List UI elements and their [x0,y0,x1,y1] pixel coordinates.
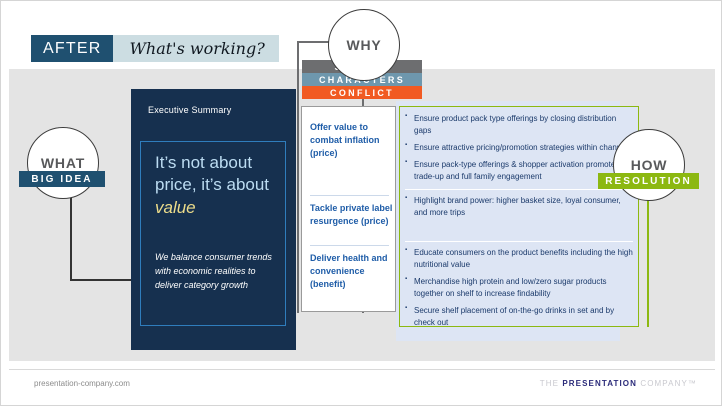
middle-item-3: Deliver health and convenience (benefit) [310,252,394,291]
middle-separator-1 [310,195,389,196]
header-after-badge: AFTER [31,35,113,62]
resolution-separator-1 [405,189,633,190]
connector-why-vertical-left [297,41,299,313]
executive-summary-panel: Executive Summary It’s not about price, … [131,89,296,350]
headline-emphasis: value [155,198,196,217]
big-idea-tag: BIG IDEA [19,171,105,187]
what-circle: WHAT [27,127,99,199]
footer-website: presentation-company.com [34,379,130,388]
resolution-bullet: Educate consumers on the product benefit… [405,247,633,271]
middle-column: Offer value to combat inflation (price) … [301,106,396,312]
footer-divider [9,369,715,370]
big-idea-box: It’s not about price, it’s about value W… [140,141,286,326]
resolution-group-2: Highlight brand power: higher basket siz… [405,195,633,224]
resolution-bullet: Secure shelf placement of on-the-go drin… [405,305,633,329]
bar-conflict: CONFLICT [302,86,422,99]
slide-header: AFTER What's working? [31,35,279,62]
resolution-bullet: Merchandise high protein and low/zero su… [405,276,633,300]
big-idea-headline: It’s not about price, it’s about value [155,152,281,219]
resolution-separator-2 [405,241,633,242]
big-idea-subtext: We balance consumer trends with economic… [155,251,283,293]
brand-company: COMPANY™ [637,379,697,388]
how-circle: HOW [613,129,685,201]
resolution-green-frame: Ensure product pack type offerings by cl… [399,106,639,327]
connector-how-vertical [647,187,649,327]
connector-what-horizontal [70,279,133,281]
resolution-bullet: Ensure attractive pricing/promotion stra… [405,142,633,154]
resolution-bullet: Highlight brand power: higher basket siz… [405,195,633,219]
middle-item-1: Offer value to combat inflation (price) [310,121,394,160]
executive-summary-title: Executive Summary [148,105,231,115]
middle-item-2: Tackle private label resurgence (price) [310,202,394,228]
slide-canvas: AFTER What's working? Executive Summary … [0,0,722,406]
resolution-tag: RESOLUTION [598,173,699,189]
resolution-group-3: Educate consumers on the product benefit… [405,247,633,334]
headline-text: It’s not about price, it’s about [155,153,269,194]
middle-separator-2 [310,245,389,246]
resolution-bullet: Ensure product pack type offerings by cl… [405,113,633,137]
footer-brand: THE PRESENTATION COMPANY™ [540,379,697,388]
brand-presentation: PRESENTATION [562,379,637,388]
header-question: What's working? [113,35,278,62]
connector-what-vertical [70,187,72,281]
why-circle: WHY [328,9,400,81]
brand-the: THE [540,379,563,388]
